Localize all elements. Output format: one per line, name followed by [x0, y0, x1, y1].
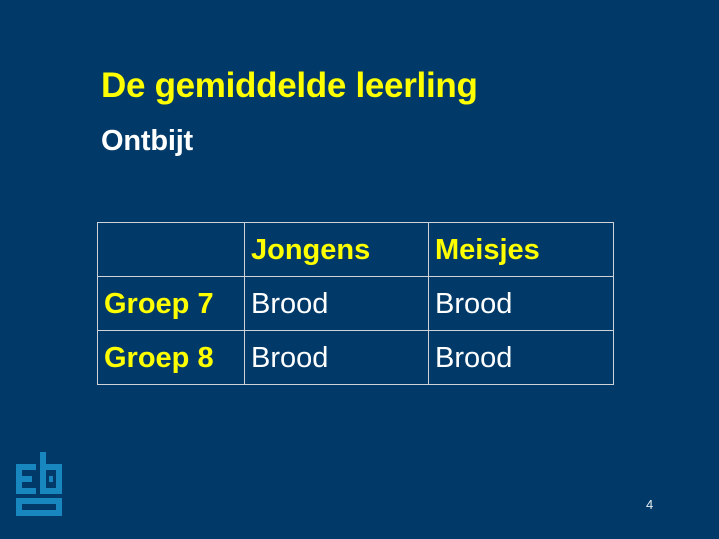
table-row: Groep 7 Brood Brood	[98, 277, 614, 331]
table-row: Groep 8 Brood Brood	[98, 331, 614, 385]
cell-groep7-jongens: Brood	[245, 277, 429, 331]
cell-groep8-jongens: Brood	[245, 331, 429, 385]
column-header-meisjes: Meisjes	[429, 223, 614, 277]
row-label-groep-7: Groep 7	[98, 277, 245, 331]
row-label-groep-8: Groep 8	[98, 331, 245, 385]
table-corner-cell	[98, 223, 245, 277]
cbs-logo-icon	[16, 452, 62, 516]
table-header-row: Jongens Meisjes	[98, 223, 614, 277]
cell-groep8-meisjes: Brood	[429, 331, 614, 385]
cell-groep7-meisjes: Brood	[429, 277, 614, 331]
page-title: De gemiddelde leerling	[101, 66, 478, 106]
page-subtitle: Ontbijt	[101, 124, 193, 158]
page-number: 4	[646, 497, 653, 513]
slide-canvas: De gemiddelde leerling Ontbijt Jongens M…	[0, 0, 719, 539]
column-header-jongens: Jongens	[245, 223, 429, 277]
breakfast-table: Jongens Meisjes Groep 7 Brood Brood Groe…	[97, 222, 614, 385]
